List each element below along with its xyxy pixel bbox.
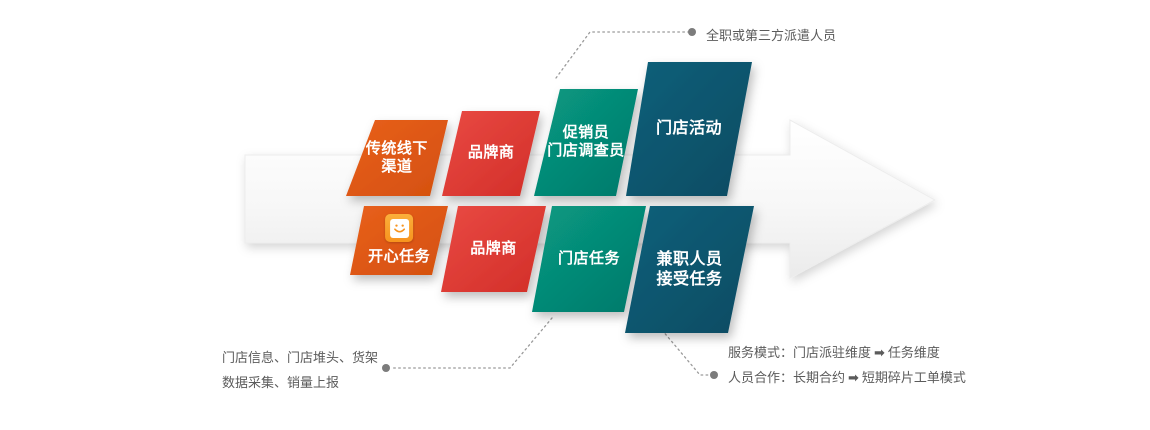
card-line: 品牌商 [470,240,517,258]
card-line: 门店任务 [558,250,620,268]
card-line: 传统线下 [366,140,428,158]
card-line: 门店活动 [656,119,722,139]
card-line: 接受任务 [656,270,722,290]
smiley-badge-icon [385,214,413,242]
card-line: 开心任务 [368,248,430,266]
right-arrow-icon: ➡ [871,345,888,360]
annotation-line: 人员合作：长期合约➡短期碎片工单模式 [728,365,966,390]
connector-service-model [662,330,718,379]
annotation-store-data: 门店信息、门店堆头、货架 数据采集、销量上报 [222,345,378,396]
annotation-staffing: 全职或第三方派遣人员 [706,23,836,48]
annotation-service-model: 服务模式：门店派驻维度➡任务维度 人员合作：长期合约➡短期碎片工单模式 [728,340,966,391]
annotation-line: 数据采集、销量上报 [222,370,378,395]
annotation-suffix: 任务维度 [888,345,940,360]
card-line: 门店调查员 [547,143,625,161]
annotation-line: 服务模式：门店派驻维度➡任务维度 [728,340,966,365]
diagram-canvas: 传统线下 渠道 品牌商 促销员 门店调查员 门店活动 [0,0,1150,430]
connector-store-data [382,318,552,372]
annotation-prefix: 人员合作：长期合约 [728,370,845,385]
right-arrow-icon: ➡ [845,370,862,385]
annotation-suffix: 短期碎片工单模式 [862,370,966,385]
annotation-line: 门店信息、门店堆头、货架 [222,345,378,370]
card-line: 兼职人员 [656,250,722,270]
card-line: 促销员 [563,124,610,142]
card-line: 品牌商 [468,144,515,162]
card-line: 渠道 [381,158,412,176]
annotation-prefix: 服务模式：门店派驻维度 [728,345,871,360]
annotation-line: 全职或第三方派遣人员 [706,23,836,48]
